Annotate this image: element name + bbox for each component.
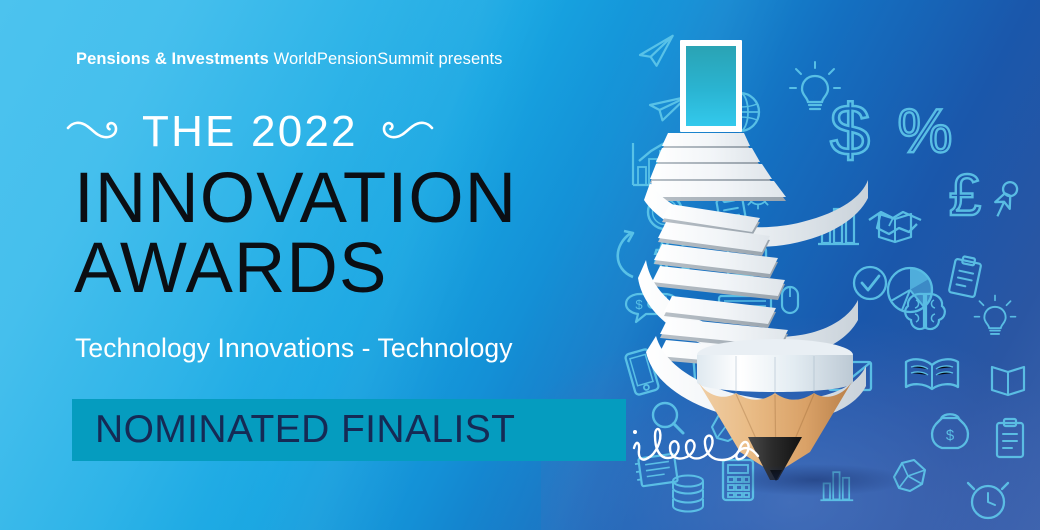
status-badge: NOMINATED FINALIST	[72, 399, 626, 461]
page-title: INNOVATION AWARDS	[74, 164, 517, 303]
svg-text:£: £	[949, 163, 981, 228]
flourish-swash-icon	[66, 115, 128, 150]
award-banner: Pensions & Investments WorldPensionSummi…	[0, 0, 1040, 530]
presenter-brand: Pensions & Investments	[76, 50, 269, 68]
flourish-swash-icon	[372, 115, 434, 150]
edition-row: THE 2022	[66, 104, 434, 160]
award-category: Technology Innovations - Technology	[75, 333, 513, 364]
presenter-suffix: WorldPensionSummit presents	[269, 50, 503, 68]
artwork-svg: $	[610, 0, 1040, 530]
svg-text:$: $	[830, 91, 870, 171]
status-badge-label: NOMINATED FINALIST	[95, 408, 515, 452]
presenter-line: Pensions & Investments WorldPensionSummi…	[76, 50, 503, 69]
svg-text:%: %	[897, 97, 952, 166]
door-icon	[680, 40, 742, 132]
spiral-staircase-pencil-illustration: $	[610, 0, 1040, 530]
edition-label: THE 2022	[142, 110, 358, 154]
